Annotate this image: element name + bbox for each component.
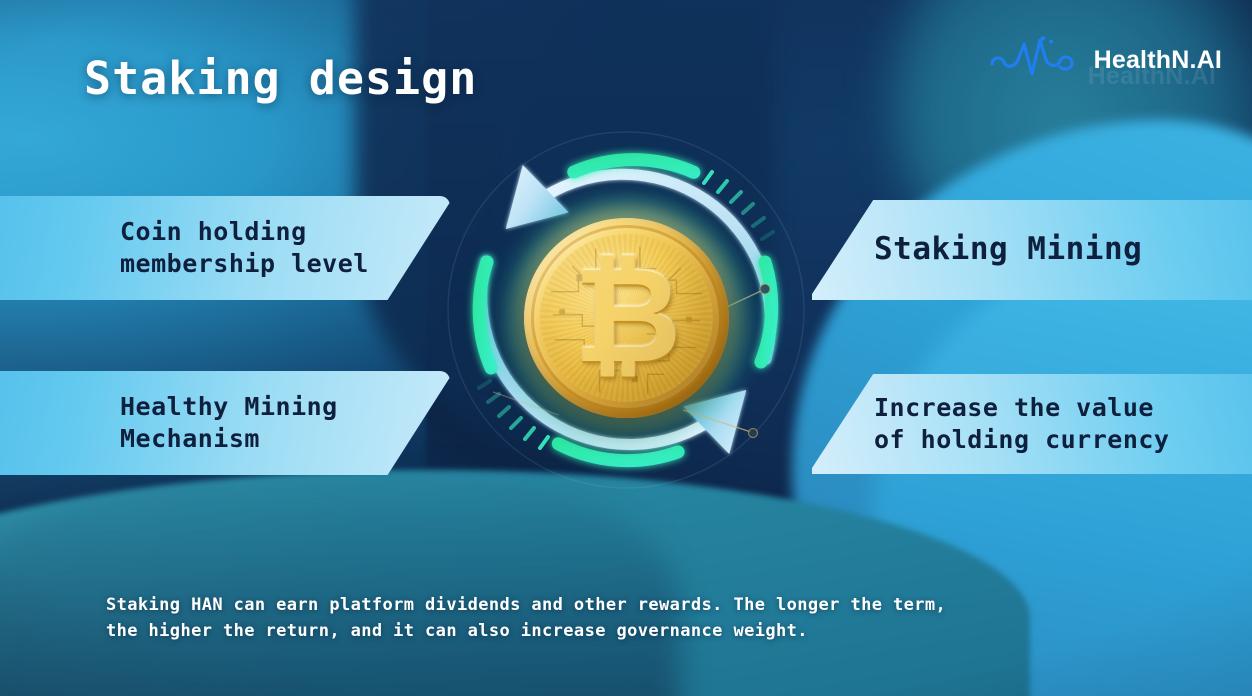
footer-caption-line2: the higher the return, and it can also i… [106,618,936,644]
banner-staking-mining-line1: Staking Mining [874,230,1252,270]
footer-caption-line1: Staking HAN can earn platform dividends … [106,592,936,618]
banner-coin-holding[interactable]: Coin holding membership level [0,196,450,300]
banner-increase-value-line1: Increase the value [874,392,1252,424]
banner-healthy-mining-line2: Mechanism [120,423,450,455]
banner-healthy-mining[interactable]: Healthy Mining Mechanism [0,371,450,475]
pulse-wave-icon [988,36,1082,84]
staking-cycle-graphic: ₿ [431,110,821,510]
banner-increase-value-line2: of holding currency [874,424,1252,456]
banner-healthy-mining-line1: Healthy Mining [120,391,450,423]
coin-rim [531,225,722,411]
banner-coin-holding-line1: Coin holding [120,216,450,248]
bitcoin-coin: ₿ [524,218,729,418]
brand-logo[interactable]: HealthN.AI [988,36,1222,84]
brand-name: HealthN.AI [1094,46,1222,75]
banner-staking-mining[interactable]: Staking Mining [812,200,1252,300]
footer-caption: Staking HAN can earn platform dividends … [106,592,936,645]
banner-coin-holding-line2: membership level [120,248,450,280]
banner-increase-value[interactable]: Increase the value of holding currency [812,374,1252,474]
slide-canvas: Staking design HealthN.AI HealthN.AI [0,0,1252,696]
coin-body: ₿ [524,218,729,418]
page-title: Staking design [84,52,477,105]
